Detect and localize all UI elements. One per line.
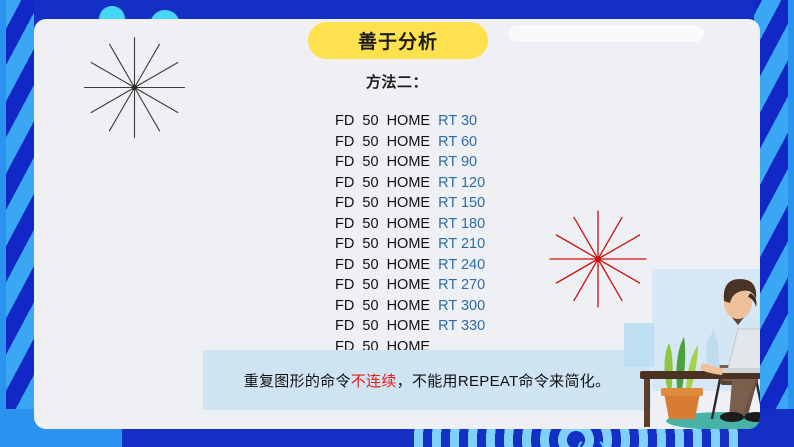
code-turn-command: RT 330 <box>438 318 485 334</box>
code-line: FD 50 HOME RT 300 <box>299 296 529 317</box>
note-part-1: 重复图形的命令 <box>244 373 351 390</box>
title-pill: 善于分析 <box>308 22 488 59</box>
code-line: FD 50 HOME RT 180 <box>299 214 529 235</box>
note-banner: 重复图形的命令不连续，不能用REPEAT命令来简化。 <box>203 350 651 410</box>
wall-panel-left <box>624 323 654 367</box>
code-line: FD 50 HOME RT 150 <box>299 193 529 214</box>
code-command: FD 50 HOME <box>335 318 438 334</box>
code-line: FD 50 HOME RT 270 <box>299 275 529 296</box>
title-pill-label: 善于分析 <box>358 27 438 54</box>
code-turn-command: RT 180 <box>438 216 485 232</box>
code-command: FD 50 HOME <box>335 216 438 232</box>
code-line: FD 50 HOME RT 90 <box>299 152 529 173</box>
code-turn-command: RT 300 <box>438 298 485 314</box>
code-command: FD 50 HOME <box>335 175 438 191</box>
code-turn-command: RT 120 <box>438 175 485 191</box>
code-command: FD 50 HOME <box>335 298 438 314</box>
person-at-desk-illustration <box>624 269 760 429</box>
shoe-left <box>720 412 744 422</box>
code-line: FD 50 HOME RT 240 <box>299 255 529 276</box>
code-turn-command: RT 270 <box>438 277 485 293</box>
code-command: FD 50 HOME <box>335 195 438 211</box>
note-banner-text: 重复图形的命令不连续，不能用REPEAT命令来简化。 <box>244 370 611 391</box>
code-line: FD 50 HOME RT 30 <box>299 111 529 132</box>
ghost-placeholder-bar <box>508 25 704 42</box>
code-command: FD 50 HOME <box>335 154 438 170</box>
illustration-svg <box>624 269 760 429</box>
code-turn-command: RT 240 <box>438 257 485 273</box>
laptop-base <box>720 368 760 373</box>
code-turn-command: RT 90 <box>438 154 477 170</box>
logo-code-block: FD 50 HOME RT 30FD 50 HOME RT 60FD 50 HO… <box>299 111 529 357</box>
note-highlight: 不连续 <box>351 373 397 390</box>
code-turn-command: RT 210 <box>438 236 485 252</box>
code-line: FD 50 HOME RT 120 <box>299 173 529 194</box>
code-command: FD 50 HOME <box>335 277 438 293</box>
code-command: FD 50 HOME <box>335 257 438 273</box>
content-card: 善于分析 方法二： FD 50 HOME RT 30FD 50 HOME RT … <box>34 19 760 429</box>
left-edge-accent <box>0 0 6 447</box>
code-turn-command: RT 60 <box>438 134 477 150</box>
code-line: FD 50 HOME RT 330 <box>299 316 529 337</box>
right-edge-accent <box>788 0 794 447</box>
method-heading: 方法二： <box>34 71 760 92</box>
code-command: FD 50 HOME <box>335 236 438 252</box>
note-part-2: ，不能用REPEAT命令来简化。 <box>397 373 611 390</box>
code-line: FD 50 HOME RT 60 <box>299 132 529 153</box>
code-line: FD 50 HOME RT 210 <box>299 234 529 255</box>
code-command: FD 50 HOME <box>335 113 438 129</box>
code-turn-command: RT 30 <box>438 113 477 129</box>
desk-leg-left <box>644 379 650 427</box>
code-turn-command: RT 150 <box>438 195 485 211</box>
code-command: FD 50 HOME <box>335 134 438 150</box>
slide-canvas: 善于分析 方法二： FD 50 HOME RT 30FD 50 HOME RT … <box>0 0 794 447</box>
